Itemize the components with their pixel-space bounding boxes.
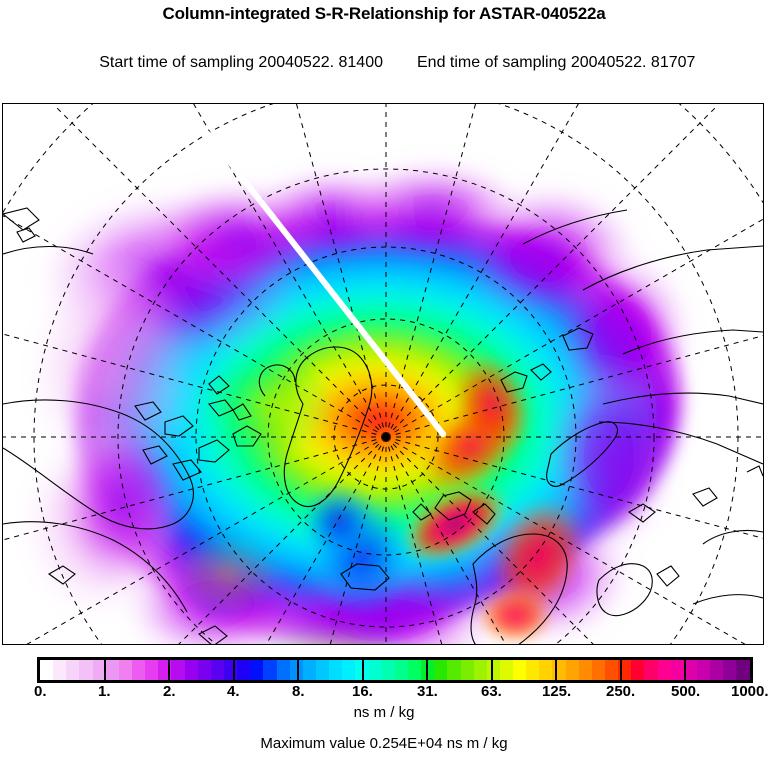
colorbar-band: [250, 660, 263, 680]
page-title: Column-integrated S-R-Relationship for A…: [0, 3, 768, 25]
colorbar-band: [710, 660, 723, 680]
colorbar-band: [671, 660, 684, 680]
colorbar-tick-label: 4.: [227, 683, 240, 701]
colorbar-band: [277, 660, 290, 680]
colorbar-divider: [684, 657, 686, 683]
colorbar-band: [66, 660, 79, 680]
colorbar-band: [539, 660, 552, 680]
colorbar-tick-label: 1.: [98, 683, 111, 701]
colorbar-tick-label: 8.: [292, 683, 305, 701]
colorbar-band: [526, 660, 539, 680]
colorbar-band: [303, 660, 316, 680]
colorbar-divider: [491, 657, 493, 683]
start-time-label: Start time of sampling 20040522. 81400: [99, 54, 383, 71]
colorbar-band: [631, 660, 644, 680]
colorbar-tick-label: 2.: [163, 683, 176, 701]
colorbar-band: [408, 660, 421, 680]
colorbar-band: [132, 660, 145, 680]
colorbar-band: [474, 660, 487, 680]
colorbar-band: [79, 660, 92, 680]
colorbar-band: [723, 660, 736, 680]
colorbar-band: [461, 660, 474, 680]
colorbar-band: [382, 660, 395, 680]
colorbar-band: [316, 660, 329, 680]
colorbar-band: [263, 660, 276, 680]
colorbar-band: [500, 660, 513, 680]
colorbar-band: [658, 660, 671, 680]
colorbar-band: [53, 660, 66, 680]
colorbar-divider: [620, 657, 622, 683]
colorbar-band: [329, 660, 342, 680]
colorbar-band: [237, 660, 250, 680]
colorbar-tick-label: 16.: [352, 683, 373, 701]
colorbar-unit-label: ns m / kg: [0, 703, 768, 723]
colorbar-band: [513, 660, 526, 680]
colorbar-band: [119, 660, 132, 680]
colorbar: [37, 657, 753, 683]
colorbar-tick-label: 31.: [417, 683, 438, 701]
colorbar-band: [605, 660, 618, 680]
colorbar-band: [171, 660, 184, 680]
colorbar-band: [697, 660, 710, 680]
colorbar-divider: [168, 657, 170, 683]
colorbar-band: [592, 660, 605, 680]
colorbar-band: [185, 660, 198, 680]
colorbar-divider: [426, 657, 428, 683]
colorbar-band: [447, 660, 460, 680]
maximum-value-label: Maximum value 0.254E+04 ns m / kg: [0, 734, 768, 754]
colorbar-band: [736, 660, 749, 680]
colorbar-tick-label: 250.: [606, 683, 635, 701]
figure-root: Column-integrated S-R-Relationship for A…: [0, 0, 768, 768]
colorbar-band: [566, 660, 579, 680]
polar-stereographic-map: [3, 104, 763, 644]
colorbar-band: [395, 660, 408, 680]
colorbar-divider: [555, 657, 557, 683]
colorbar-band: [579, 660, 592, 680]
colorbar-tick-labels: 0.1.2.4.8.16.31.63.125.250.500.1000.: [0, 683, 768, 703]
colorbar-strip: [37, 657, 753, 683]
colorbar-tick-label: 500.: [671, 683, 700, 701]
colorbar-band: [198, 660, 211, 680]
colorbar-tick-label: 63.: [481, 683, 502, 701]
colorbar-band: [145, 660, 158, 680]
colorbar-divider: [297, 657, 299, 683]
colorbar-tick-label: 125.: [542, 683, 571, 701]
colorbar-band: [211, 660, 224, 680]
map-panel: [2, 103, 764, 645]
colorbar-tick-label: 1000.: [731, 683, 768, 701]
end-time-label: End time of sampling 20040522. 81707: [417, 54, 695, 71]
release-point-marker: [440, 431, 446, 437]
colorbar-band: [434, 660, 447, 680]
colorbar-divider: [104, 657, 106, 683]
colorbar-band: [40, 660, 53, 680]
colorbar-band: [487, 660, 500, 680]
sampling-times-line: Start time of sampling 20040522. 81400En…: [0, 25, 768, 100]
colorbar-divider: [362, 657, 364, 683]
colorbar-band: [224, 660, 237, 680]
colorbar-band: [106, 660, 119, 680]
colorbar-band: [644, 660, 657, 680]
colorbar-tick-label: 0.: [34, 683, 47, 701]
colorbar-band: [369, 660, 382, 680]
colorbar-divider: [233, 657, 235, 683]
colorbar-band: [342, 660, 355, 680]
